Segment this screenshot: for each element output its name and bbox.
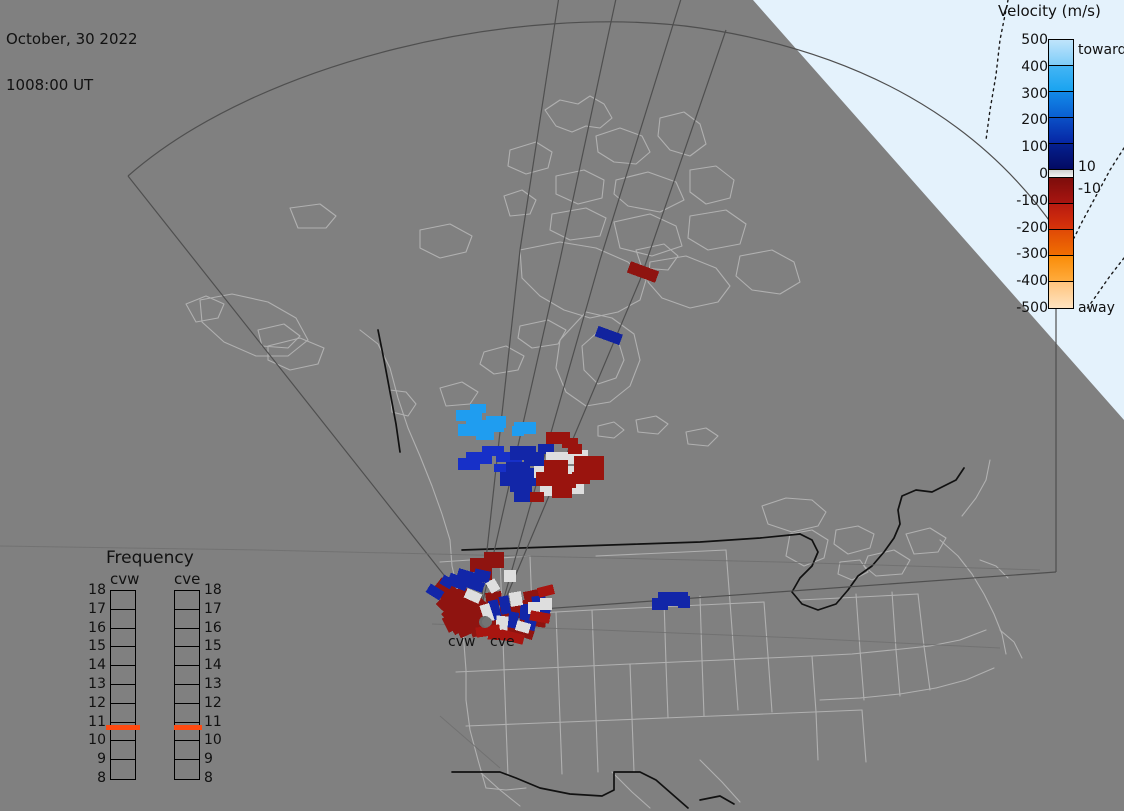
frequency-marker-cve — [174, 725, 202, 730]
frequency-scale-label: 11 — [204, 715, 224, 729]
frequency-cell — [111, 610, 135, 629]
colorbar-tick: 200 — [1021, 113, 1048, 127]
frequency-legend: Frequency cvw cve 1818171716161515141413… — [82, 548, 242, 798]
colorbar-away-label: away — [1078, 301, 1115, 315]
velocity-colorbar: Velocity (m/s) 5004003002001000-100-200-… — [994, 0, 1124, 330]
frequency-scale-label: 17 — [86, 602, 106, 616]
frequency-scale-label: 9 — [204, 752, 224, 766]
station-label-cvw: cvw — [448, 634, 475, 650]
frequency-marker-cvw — [106, 725, 140, 730]
midwest-blue-cells — [652, 592, 690, 610]
colorbar-tick: -500 — [1016, 301, 1048, 315]
frequency-scale-label: 14 — [204, 658, 224, 672]
timestamp-time: 1008:00 UT — [6, 78, 138, 94]
frequency-title: Frequency — [106, 548, 194, 568]
frequency-cell — [175, 760, 199, 779]
colorbar-tick: -200 — [1016, 221, 1048, 235]
colorbar-gradient — [1048, 39, 1074, 309]
north-light-blue-cells — [456, 404, 536, 440]
station-marker-cve — [482, 617, 492, 627]
colorbar-segment — [1049, 178, 1073, 204]
timestamp-date: October, 30 2022 — [6, 32, 138, 48]
frequency-scale-label: 10 — [86, 733, 106, 747]
frequency-scale-label: 18 — [86, 583, 106, 597]
frequency-cell — [111, 629, 135, 648]
frequency-cell — [175, 704, 199, 723]
frequency-column-cvw — [110, 590, 136, 780]
arctic-cells — [595, 261, 659, 345]
frequency-cell — [175, 629, 199, 648]
frequency-scale-label: 12 — [86, 696, 106, 710]
frequency-cell — [111, 685, 135, 704]
colorbar-segment — [1049, 256, 1073, 282]
colorbar-segment — [1049, 144, 1073, 170]
colorbar-tick: -300 — [1016, 247, 1048, 261]
frequency-column-cve — [174, 590, 200, 780]
colorbar-segment — [1049, 40, 1073, 66]
colorbar-segment — [1049, 282, 1073, 308]
colorbar-tick: 300 — [1021, 87, 1048, 101]
frequency-scale-label: 16 — [86, 621, 106, 635]
colorbar-segment — [1049, 92, 1073, 118]
station-fan-beams — [426, 552, 555, 645]
frequency-cell — [175, 741, 199, 760]
frequency-scale-label: 15 — [86, 639, 106, 653]
frequency-scale-label: 10 — [204, 733, 224, 747]
timestamp: October, 30 2022 1008:00 UT — [6, 2, 138, 124]
frequency-cell — [111, 591, 135, 610]
colorbar-tick: 500 — [1021, 33, 1048, 47]
frequency-cell — [175, 610, 199, 629]
colorbar-title: Velocity (m/s) — [998, 2, 1124, 20]
colorbar-tick: -400 — [1016, 274, 1048, 288]
frequency-header-cve: cve — [174, 570, 200, 588]
frequency-cell — [111, 704, 135, 723]
frequency-scale-label: 17 — [204, 602, 224, 616]
colorbar-segment — [1049, 66, 1073, 92]
frequency-scale-label: 8 — [204, 771, 224, 785]
frequency-scale-label: 15 — [204, 639, 224, 653]
colorbar-tick: 0 — [1039, 167, 1048, 181]
frequency-scale-label: 13 — [86, 677, 106, 691]
frequency-scale-label: 12 — [204, 696, 224, 710]
colorbar-segment — [1049, 170, 1073, 178]
colorbar-negative-threshold: -10 — [1078, 182, 1101, 196]
colorbar-tick: 400 — [1021, 60, 1048, 74]
frequency-cell — [175, 685, 199, 704]
colorbar-tick: 100 — [1021, 140, 1048, 154]
frequency-cell — [111, 647, 135, 666]
colorbar-segment — [1049, 118, 1073, 144]
station-label-cve: cve — [490, 634, 515, 650]
radar-map-canvas: October, 30 2022 1008:00 UT cvw cve Velo… — [0, 0, 1124, 811]
frequency-scale-label: 8 — [86, 771, 106, 785]
frequency-cell — [111, 760, 135, 779]
frequency-cell — [175, 647, 199, 666]
frequency-scale-label: 13 — [204, 677, 224, 691]
colorbar-tick: -100 — [1016, 194, 1048, 208]
frequency-scale-label: 16 — [204, 621, 224, 635]
frequency-scale-label: 18 — [204, 583, 224, 597]
frequency-cell — [175, 666, 199, 685]
frequency-scale-label: 9 — [86, 752, 106, 766]
frequency-cell — [111, 741, 135, 760]
colorbar-segment — [1049, 204, 1073, 230]
frequency-header-cvw: cvw — [110, 570, 139, 588]
colorbar-toward-label: toward — [1078, 43, 1124, 57]
frequency-scale-label: 11 — [86, 715, 106, 729]
colorbar-positive-threshold: 10 — [1078, 160, 1096, 174]
frequency-cell — [175, 591, 199, 610]
colorbar-segment — [1049, 230, 1073, 256]
frequency-cell — [111, 666, 135, 685]
frequency-scale-label: 14 — [86, 658, 106, 672]
